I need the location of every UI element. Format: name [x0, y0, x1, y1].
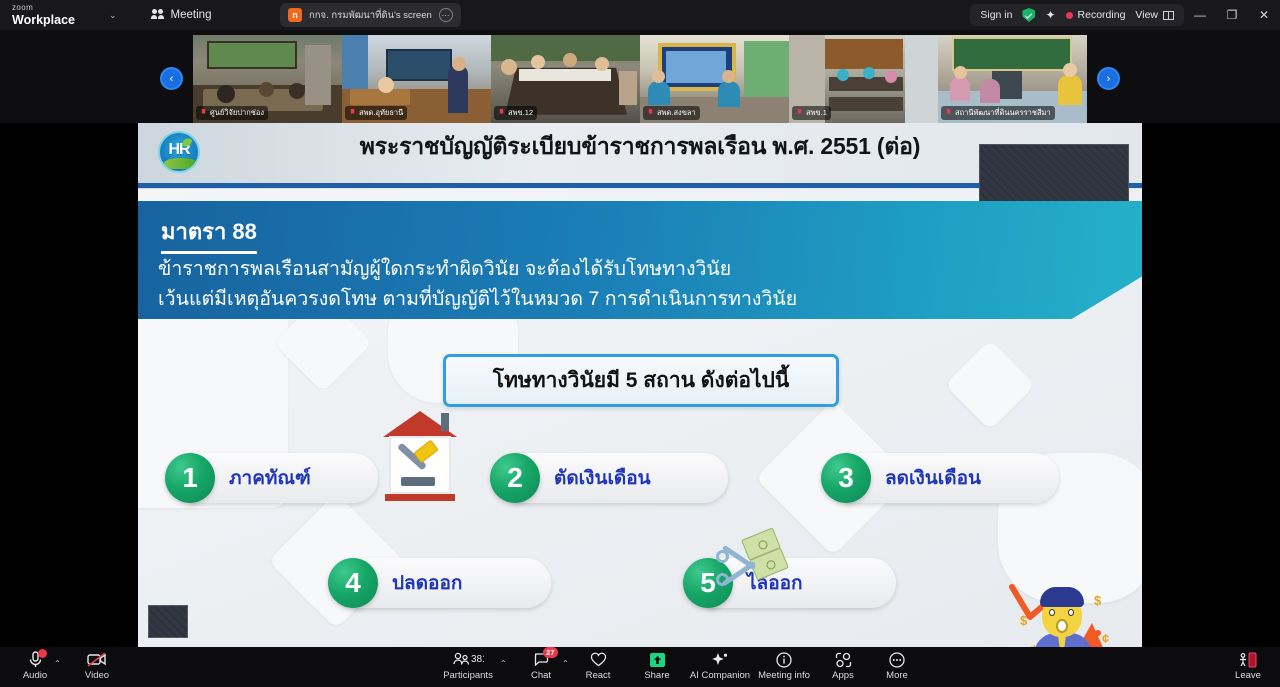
- share-screen-icon: [649, 651, 666, 668]
- recording-dot-icon: [1066, 12, 1073, 19]
- participants-icon: 381: [452, 651, 484, 668]
- participant-tile[interactable]: สถานีพัฒนาที่ดินนครราชสีมา: [938, 35, 1087, 123]
- man-eye: [1068, 609, 1074, 616]
- filmstrip-next-button[interactable]: ›: [1097, 67, 1120, 90]
- tab-shared-screen-label: กกจ. กรมพัฒนาที่ดิน's screen: [309, 8, 432, 23]
- shield-check-icon[interactable]: [1022, 8, 1035, 22]
- participant-name: ศูนย์วิจัยปากช่อง: [210, 107, 264, 119]
- maximize-button[interactable]: ❐: [1216, 0, 1248, 30]
- participant-tile[interactable]: สพด.สงขลา: [640, 35, 789, 123]
- zoom-workplace-logo: zoom Workplace: [12, 4, 75, 27]
- close-button[interactable]: ✕: [1248, 0, 1280, 30]
- scissor-ring: [716, 550, 729, 563]
- penalties-callout-text: โทษทางวินัยมี 5 สถาน ดังต่อไปนี้: [493, 364, 789, 397]
- participant-tile[interactable]: สพข.1: [789, 35, 938, 123]
- participant-filmstrip[interactable]: ศูนย์วิจัยปากช่อง สพด.อุทัยธานี: [193, 35, 1087, 123]
- participants-chevron-icon[interactable]: ⌃: [500, 659, 507, 668]
- penalty-number-badge: 2: [490, 453, 540, 503]
- info-icon: [776, 651, 792, 668]
- brand-workplace-label: Workplace: [12, 14, 75, 27]
- penalty-label: ลดเงินเดือน: [885, 463, 981, 493]
- more-options-icon[interactable]: ⋯: [439, 8, 453, 22]
- toolbar-chat-label: Chat: [531, 670, 551, 681]
- penalty-number-badge: 4: [328, 558, 378, 608]
- scissor-ring: [716, 573, 729, 586]
- toolbar-ai-companion[interactable]: AI Companion: [684, 651, 756, 681]
- section-label: มาตรา 88: [161, 214, 257, 254]
- shocked-man-falling-chart-icon: $ $ ¢ ฿: [1016, 579, 1112, 647]
- mic-muted-icon: [945, 109, 952, 118]
- body-line-1: ข้าราชการพลเรือนสามัญผู้ใดกระทำผิดวินัย …: [158, 253, 731, 284]
- penalty-label: ตัดเงินเดือน: [554, 463, 651, 493]
- toolbar-more[interactable]: More: [880, 651, 914, 681]
- penalty-number: 3: [838, 464, 854, 492]
- toolbar-react-label: React: [586, 670, 611, 681]
- audio-options-chevron-icon[interactable]: ⌃: [54, 659, 61, 668]
- toolbar-video-label: Video: [85, 670, 109, 681]
- apps-icon: [835, 651, 852, 668]
- background-shape: [945, 340, 1036, 431]
- tab-meeting-label: Meeting: [171, 9, 212, 21]
- toolbar-ai-companion-label: AI Companion: [690, 670, 750, 681]
- toolbar-chat[interactable]: 27 Chat: [524, 651, 558, 681]
- meeting-toolbar: Audio ⌃ Video 381 Participants ⌃: [0, 647, 1280, 687]
- shared-screen-stage: พระราชบัญญัติระเบียบข้าราชการพลเรือน พ.ศ…: [0, 123, 1280, 647]
- view-button[interactable]: View: [1135, 9, 1174, 21]
- toolbar-audio-label: Audio: [23, 670, 47, 681]
- coin-symbol: $: [1020, 613, 1027, 628]
- participant-tile[interactable]: ศูนย์วิจัยปากช่อง: [193, 35, 342, 123]
- status-pill: Sign in ✦ Recording View: [970, 4, 1184, 26]
- participant-name: สพข.1: [806, 107, 827, 119]
- toolbar-apps-label: Apps: [832, 670, 854, 681]
- chat-unread-badge: 27: [543, 647, 557, 658]
- scissors-shape: [716, 545, 762, 593]
- toolbar-share-label: Share: [644, 670, 669, 681]
- participant-name-badge: สพด.อุทัยธานี: [345, 106, 407, 120]
- participant-name-badge: ศูนย์วิจัยปากช่อง: [196, 106, 268, 120]
- penalty-item-3: 3 ลดเงินเดือน: [821, 453, 981, 503]
- penalty-item-1: 1 ภาคทัณฑ์: [165, 453, 311, 503]
- heart-icon: [590, 651, 607, 668]
- mic-muted-icon: [349, 109, 356, 118]
- toolbar-leave-label: Leave: [1235, 670, 1261, 681]
- coin-symbol: $: [1094, 593, 1101, 608]
- participant-tile[interactable]: สพข.12: [491, 35, 640, 123]
- penalty-label: ภาคทัณฑ์: [229, 463, 311, 493]
- gavel-icon: [393, 443, 443, 487]
- toolbar-video[interactable]: Video: [80, 651, 114, 681]
- window-controls-group: Sign in ✦ Recording View — ❐ ✕: [970, 0, 1280, 30]
- toolbar-meeting-info[interactable]: Meeting info: [754, 651, 814, 681]
- leaf-shape-icon: [164, 158, 198, 169]
- presentation-slide: พระราชบัญญัติระเบียบข้าราชการพลเรือน พ.ศ…: [138, 123, 1142, 647]
- toolbar-react[interactable]: React: [580, 651, 616, 681]
- article-banner: มาตรา 88 ข้าราชการพลเรือนสามัญผู้ใดกระทำ…: [138, 201, 1142, 319]
- participant-name-badge: สพด.สงขลา: [643, 106, 700, 120]
- camera-off-icon: [87, 651, 107, 668]
- svg-text:381: 381: [471, 654, 484, 665]
- people-icon: [151, 9, 165, 21]
- recording-indicator[interactable]: Recording: [1066, 9, 1126, 21]
- shared-app-icon: n: [288, 8, 302, 22]
- house-base-shape: [385, 494, 455, 501]
- penalty-number: 4: [345, 569, 361, 597]
- chat-icon: 27: [533, 651, 550, 668]
- minimize-button[interactable]: —: [1184, 0, 1216, 30]
- title-bar: zoom Workplace ⌄ Meeting n กกจ. กรมพัฒนา…: [0, 0, 1280, 30]
- hr-logo: HR: [158, 131, 200, 173]
- participant-tile[interactable]: สพด.อุทัยธานี: [342, 35, 491, 123]
- gavel-block: [401, 477, 435, 486]
- chimney-shape: [441, 413, 449, 431]
- toolbar-apps[interactable]: Apps: [826, 651, 860, 681]
- view-label: View: [1135, 9, 1158, 21]
- penalty-number-badge: 1: [165, 453, 215, 503]
- participant-name: สพข.12: [508, 107, 533, 119]
- penalties-callout-box: โทษทางวินัยมี 5 สถาน ดังต่อไปนี้: [443, 354, 839, 407]
- ai-sparkle-icon: [711, 651, 729, 668]
- tab-meeting[interactable]: Meeting: [143, 5, 220, 25]
- participant-name: สพด.อุทัยธานี: [359, 107, 403, 119]
- filmstrip-prev-button[interactable]: ‹: [160, 67, 183, 90]
- video-overlay-placeholder-bottom-left[interactable]: [148, 605, 188, 638]
- toolbar-share[interactable]: Share: [640, 651, 674, 681]
- mic-muted-icon: [498, 109, 505, 118]
- penalty-item-2: 2 ตัดเงินเดือน: [490, 453, 651, 503]
- man-eye: [1049, 609, 1055, 616]
- layout-grid-icon: [1163, 11, 1174, 20]
- penalty-number: 5: [700, 569, 716, 597]
- toolbar-audio[interactable]: Audio: [18, 651, 52, 681]
- scissors-money-icon: [716, 533, 788, 597]
- mic-muted-icon: [796, 109, 803, 118]
- toolbar-participants-label: Participants: [443, 670, 493, 681]
- mic-muted-icon: [200, 109, 207, 118]
- body-line-2: เว้นแต่มีเหตุอันควรงดโทษ ตามที่บัญญัติไว…: [158, 283, 797, 314]
- recording-label: Recording: [1078, 9, 1126, 21]
- man-hair: [1040, 587, 1084, 607]
- more-icon: [889, 651, 905, 668]
- participant-name-badge: สพข.12: [494, 106, 537, 120]
- man-mouth: [1056, 619, 1068, 633]
- sign-in-button[interactable]: Sign in: [980, 9, 1012, 21]
- zoom-meeting-window: zoom Workplace ⌄ Meeting n กกจ. กรมพัฒนา…: [0, 0, 1280, 687]
- chat-chevron-icon[interactable]: ⌃: [562, 659, 569, 668]
- leave-icon: [1238, 651, 1258, 668]
- toolbar-more-label: More: [886, 670, 908, 681]
- microphone-icon: [28, 651, 43, 668]
- participant-name: สถานีพัฒนาที่ดินนครราชสีมา: [955, 107, 1051, 119]
- tab-shared-screen[interactable]: n กกจ. กรมพัฒนาที่ดิน's screen ⋯: [280, 3, 461, 27]
- brand-zoom-label: zoom: [12, 4, 75, 12]
- toolbar-participants[interactable]: 381 Participants: [446, 651, 490, 681]
- penalty-number-badge: 3: [821, 453, 871, 503]
- participant-name: สพด.สงขลา: [657, 107, 696, 119]
- coin-symbol: ¢: [1102, 631, 1109, 646]
- participant-name-badge: สถานีพัฒนาที่ดินนครราชสีมา: [941, 106, 1055, 120]
- penalty-number: 2: [507, 464, 523, 492]
- penalty-label: ปลดออก: [392, 568, 462, 598]
- toolbar-leave[interactable]: Leave: [1230, 651, 1266, 681]
- penalty-number: 1: [182, 464, 198, 492]
- penalty-item-4: 4 ปลดออก: [328, 558, 462, 608]
- chevron-down-icon[interactable]: ⌄: [109, 10, 117, 21]
- house-gavel-icon: [383, 411, 457, 503]
- toolbar-meeting-info-label: Meeting info: [758, 670, 810, 681]
- mic-muted-icon: [647, 109, 654, 118]
- ai-sparkle-icon[interactable]: ✦: [1045, 9, 1055, 21]
- participant-name-badge: สพข.1: [792, 106, 831, 120]
- mic-alert-badge: [38, 649, 47, 658]
